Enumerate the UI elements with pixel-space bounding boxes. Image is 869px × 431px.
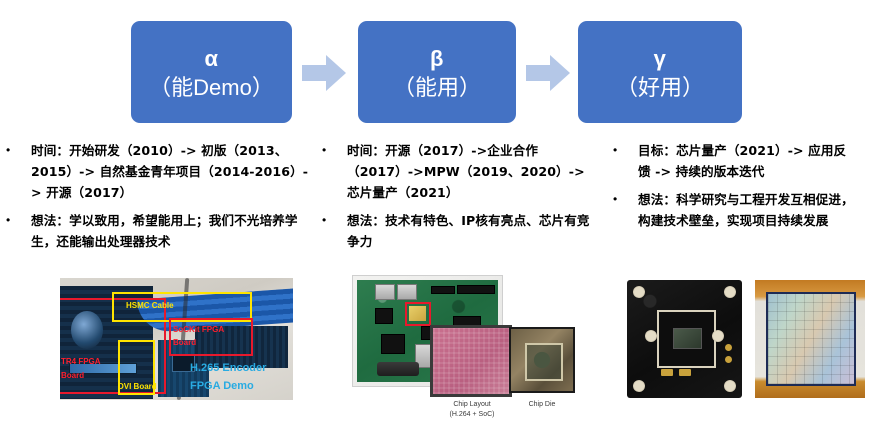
mount-hole [724,380,736,392]
mount-hole [633,380,645,392]
mount-hole [633,286,645,298]
header-pins [457,285,495,294]
beta-details-column: • 时间：开源（2017）->企业合作（2017）->MPW（2019、2020… [320,140,592,259]
list-item: • 时间：开源（2017）->企业合作（2017）->MPW（2019、2020… [320,140,592,203]
slide-canvas: α （能Demo） β （能用） γ （好用） • 时间：开始研发（2010）-… [0,0,869,431]
bullet-marker: • [320,140,347,160]
bullet-text: 想法：技术有特色、IP核有亮点、芯片有竞争力 [347,210,592,252]
silicon-wafer-photo [766,292,856,386]
chip-layout-caption-line1: Chip Layout [428,400,516,410]
bullet-marker: • [605,189,638,209]
bullet-text: 目标：芯片量产（2021）-> 应用反馈 -> 持续的版本迭代 [638,140,855,182]
bullet-text: 想法：科学研究与工程开发互相促进，构建技术壁垒，实现项目持续发展 [638,189,855,231]
solder-pad [679,369,691,376]
list-item: • 想法：学以致用，希望能用上；我们不光培养学生，还能输出处理器技术 [0,210,310,252]
sockit-fpga-board-outline [169,318,253,356]
main-soc-outline [405,302,431,326]
header-pins [431,286,455,294]
usb-port-icon [375,284,395,300]
phase-box-alpha[interactable]: α （能Demo） [131,21,292,123]
gamma-details-column: • 目标：芯片量产（2021）-> 应用反馈 -> 持续的版本迭代 • 想法：科… [605,140,855,238]
list-item: • 目标：芯片量产（2021）-> 应用反馈 -> 持续的版本迭代 [605,140,855,182]
arrow-beta-to-gamma [526,55,570,91]
hsmc-cable-label: HSMC Cable [126,301,174,310]
fpga-demo-photo: HSMC Cable SoCKit FPGA Board TR4 FPGA Bo… [60,278,293,400]
chip-layout-photo [430,325,512,397]
bullet-marker: • [0,210,31,230]
phase-box-beta[interactable]: β （能用） [358,21,516,123]
phase-greek-gamma: γ [654,46,667,71]
ic-chip [381,334,405,354]
camera-module-board-photo [627,280,742,398]
bullet-text: 时间：开源（2017）->企业合作（2017）->MPW（2019、2020）-… [347,140,592,203]
sensor-shield-frame [657,310,716,368]
phase-subtitle-alpha: （能Demo） [149,74,274,102]
alpha-details-column: • 时间：开始研发（2010）-> 初版（2013、2015）-> 自然基金青年… [0,140,310,259]
ic-chip [375,308,393,324]
list-item: • 时间：开始研发（2010）-> 初版（2013、2015）-> 自然基金青年… [0,140,310,203]
chip-layout-caption-line2: (H.264 + SoC) [428,410,516,420]
phase-subtitle-gamma: （好用） [616,74,704,102]
usb-port-icon [397,284,417,300]
arrow-alpha-to-beta [302,55,346,91]
bullet-marker: • [0,140,31,160]
tr4-fpga-label: TR4 FPGA [61,357,101,366]
phase-subtitle-beta: （能用） [393,74,481,102]
chip-layout-caption: Chip Layout (H.264 + SoC) [428,400,516,420]
center-hole [712,330,724,342]
solder-pad [725,356,732,363]
solder-pad [725,344,732,351]
list-item: • 想法：技术有特色、IP核有亮点、芯片有竞争力 [320,210,592,252]
phase-greek-beta: β [430,46,444,71]
sockit-board-label: Board [173,338,196,347]
bullet-text: 时间：开始研发（2010）-> 初版（2013、2015）-> 自然基金青年项目… [31,140,310,203]
fpga-demo-label: FPGA Demo [190,380,254,392]
chip-die-photo [509,327,575,393]
phase-greek-alpha: α [204,46,218,71]
list-item: • 想法：科学研究与工程开发互相促进，构建技术壁垒，实现项目持续发展 [605,189,855,231]
chip-die-caption: Chip Die [509,400,575,410]
phase-box-gamma[interactable]: γ （好用） [578,21,742,123]
dvi-board-label: DVI Board [118,382,157,391]
bullet-text: 想法：学以致用，希望能用上；我们不光培养学生，还能输出处理器技术 [31,210,310,252]
tr4-board-label: Board [61,371,84,380]
vga-connector [377,362,419,376]
bullet-marker: • [320,210,347,230]
center-hole [645,330,657,342]
solder-pad [661,369,673,376]
h265-encoder-label: H.265 Encoder [190,362,266,374]
chip-die-caption-line1: Chip Die [509,400,575,410]
bullet-marker: • [605,140,638,160]
sockit-fpga-label: SoCKit FPGA [173,325,224,334]
mount-hole [724,286,736,298]
